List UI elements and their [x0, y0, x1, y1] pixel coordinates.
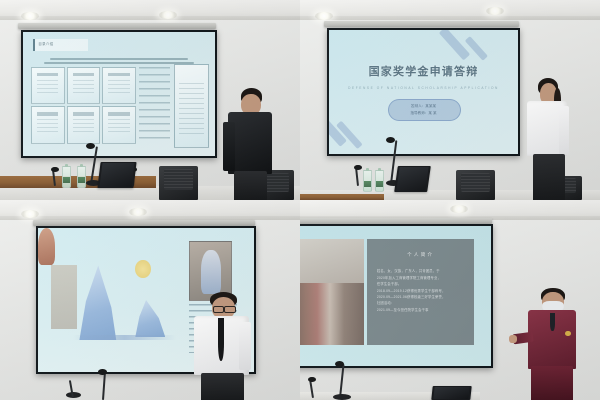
projector-screen-frame: 国家奖学金申请答辩 DEFENSE OF NATIONAL SCHOLARSHI…: [327, 28, 520, 156]
artwork-backdrop-panel: [51, 265, 77, 328]
arm: [239, 322, 251, 370]
projector-screen-frame: 目录介绍: [21, 30, 217, 158]
slide-certificates: 目录介绍: [23, 32, 215, 156]
panel-top-right: 国家奖学金申请答辩 DEFENSE OF NATIONAL SCHOLARSHI…: [300, 0, 600, 200]
arm: [223, 122, 235, 171]
bottle-cap: [80, 164, 84, 167]
ceiling-light: [21, 12, 39, 20]
certificate-item: [31, 67, 65, 104]
presenter-female-white-shirt: [519, 78, 588, 200]
laptop[interactable]: [394, 166, 431, 192]
laptop-screen: [99, 163, 134, 186]
bottle-cap: [65, 164, 69, 167]
water-bottle: [62, 166, 72, 188]
intro-text-board: 个人简介 姓名，女，汉族，广东人，共青团员，于 2020年加入工商管理学院工商管…: [367, 239, 474, 345]
projector-screen-frame: 个人简介 姓名，女，汉族，广东人，共青团员，于 2020年加入工商管理学院工商管…: [300, 224, 493, 368]
slide-advisor-name: 指导教师：某 某: [329, 110, 518, 116]
projector-screen: 国家奖学金申请答辩 DEFENSE OF NATIONAL SCHOLARSHI…: [329, 30, 518, 154]
screen-housing: [18, 23, 216, 29]
slide-main-title: 国家奖学金申请答辩: [329, 63, 518, 79]
arm: [559, 106, 569, 155]
presenter-female-uniform: [516, 288, 600, 400]
ground-shadow: [73, 335, 177, 341]
slide-body-line-2: [44, 62, 194, 64]
slide-subtitle: DEFENSE OF NATIONAL SCHOLARSHIP APPLICAT…: [329, 86, 518, 90]
skirt-legs: [531, 366, 573, 400]
certificate-item: [102, 67, 136, 104]
ceiling-light: [21, 210, 39, 218]
legs: [234, 171, 267, 200]
microphone-base: [333, 394, 351, 400]
microphone-head: [51, 167, 59, 172]
chair: [456, 170, 495, 200]
group-photo: [300, 239, 364, 345]
intro-heading: 个人简介: [367, 252, 474, 258]
ceiling-light: [450, 205, 468, 213]
ceiling-light: [159, 11, 177, 19]
draped-figure: [135, 300, 165, 337]
photo-collage: 目录介绍: [0, 0, 600, 400]
small-figure: [38, 228, 55, 265]
certificate-item: [67, 67, 101, 104]
intro-body: 姓名，女，汉族，广东人，共青团员，于 2020年加入工商管理学院工商管理专业， …: [377, 268, 467, 313]
slide-title: 目录介绍: [38, 41, 53, 46]
bottle-label: [364, 181, 371, 188]
bottle-label: [78, 177, 86, 184]
certificate-item: [67, 106, 101, 143]
certificate-grid: [31, 67, 137, 144]
ceiling-light: [315, 12, 333, 20]
microphone-head: [354, 165, 362, 170]
presenter-male-student: [189, 292, 273, 400]
projector-screen: 目录介绍: [23, 32, 215, 156]
uniform-badge: [565, 331, 571, 337]
bottle-cap: [366, 168, 369, 171]
laptop[interactable]: [97, 162, 136, 188]
panel-top-left: 目录介绍: [0, 0, 300, 200]
group-photo-crowd: [300, 283, 364, 345]
laptop-screen: [433, 387, 469, 400]
screen-housing: [324, 21, 519, 27]
slide-personal-intro: 个人简介 姓名，女，汉族，广东人，共青团员，于 2020年加入工商管理学院工商管…: [300, 226, 491, 366]
hand: [509, 335, 517, 343]
chair: [159, 166, 198, 200]
uniform-necktie: [550, 313, 555, 331]
water-bottle: [363, 170, 372, 192]
microphone-head: [98, 369, 106, 375]
decor-bar: [464, 36, 487, 61]
ceiling-light: [129, 208, 147, 216]
bottle-label: [63, 177, 71, 184]
certificate-item: [31, 106, 65, 143]
necktie: [218, 318, 225, 361]
certificate-item: [102, 106, 136, 143]
bottle-cap: [378, 168, 381, 171]
projector-screen: 个人简介 姓名，女，汉族，广东人，共青团员，于 2020年加入工商管理学院工商管…: [300, 226, 491, 366]
water-bottle: [77, 166, 87, 188]
panel-bottom-left: [0, 200, 300, 400]
intro-line: 2021.09—至今担任院学生会干事: [377, 307, 467, 313]
slide-body-line-1: [50, 58, 188, 60]
chair-mesh: [461, 173, 491, 192]
ceiling-light: [486, 7, 504, 15]
bottle-label: [376, 181, 383, 188]
panel-bottom-right: 个人简介 姓名，女，汉族，广东人，共青团员，于 2020年加入工商管理学院工商管…: [300, 200, 600, 400]
water-bottle: [375, 170, 384, 192]
decor-bar: [439, 30, 471, 61]
sun-shape: [135, 260, 151, 279]
chair-mesh: [164, 169, 194, 190]
slide-side-document: [174, 64, 210, 148]
legs: [201, 373, 245, 400]
glasses: [224, 306, 235, 313]
laptop[interactable]: [431, 386, 471, 400]
laptop-screen: [396, 167, 429, 190]
glasses: [213, 306, 224, 313]
slide-presenter-name: 答辩人：某某某: [329, 103, 518, 109]
slide-text-column: [139, 67, 170, 144]
draped-figure: [77, 265, 118, 340]
legs: [533, 154, 565, 200]
presenter-male-suit: [222, 88, 294, 200]
slide-title-page: 国家奖学金申请答辩 DEFENSE OF NATIONAL SCHOLARSHI…: [329, 30, 518, 154]
